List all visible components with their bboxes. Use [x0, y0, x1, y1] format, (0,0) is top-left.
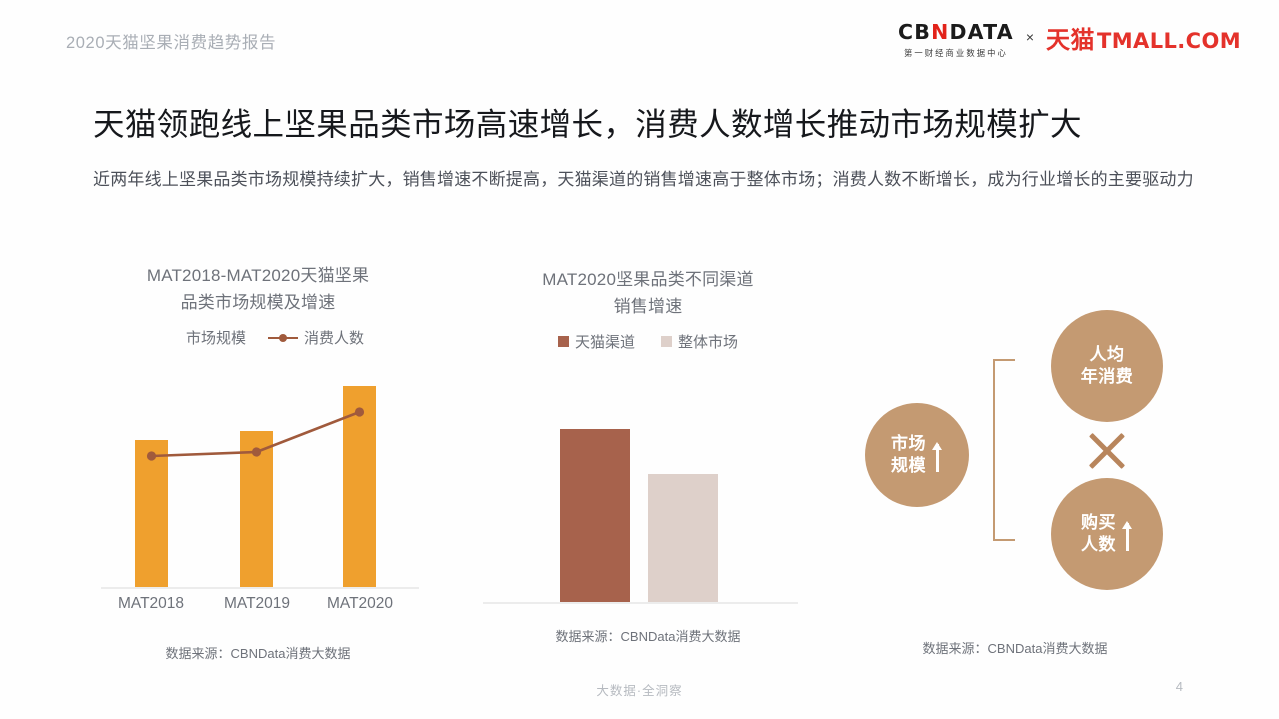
- chart2-source-note: 数据来源：CBNData消费大数据: [483, 626, 813, 645]
- chart1-x-axis-labels: MAT2018 MAT2019 MAT2020: [101, 595, 419, 621]
- circle-buyer-count-label: 购买 人数: [1081, 512, 1116, 556]
- circle-market-size: 市场 规模: [865, 403, 969, 507]
- multiply-icon: [1084, 428, 1130, 474]
- chart1-title-line1: MAT2018-MAT2020天猫坚果: [93, 262, 423, 289]
- brand-logo: CBNDATA 第一财经商业数据中心 × 天猫 TMALL.COM: [898, 22, 1241, 59]
- cbndata-logo: CBNDATA 第一财经商业数据中心: [898, 22, 1014, 59]
- chart1-source-note: 数据来源：CBNData消费大数据: [93, 643, 423, 662]
- cbndata-n-accent: N: [931, 20, 949, 44]
- legend-label-market-size: 市场规模: [186, 327, 246, 348]
- legend-label-consumers: 消费人数: [304, 327, 364, 348]
- circle-per-capita-label: 人均 年消费: [1081, 344, 1134, 388]
- chart1-title: MAT2018-MAT2020天猫坚果 品类市场规模及增速: [93, 262, 423, 316]
- diagram-source-note: 数据来源：CBNData消费大数据: [845, 638, 1185, 657]
- chart1-xlabel-2: MAT2020: [327, 595, 393, 613]
- cbndata-wordmark: CBNDATA: [898, 22, 1014, 43]
- chart-panel-market-size: MAT2018-MAT2020天猫坚果 品类市场规模及增速 市场规模 消费人数: [93, 262, 423, 662]
- report-title: 2020天猫坚果消费趋势报告: [66, 29, 276, 53]
- tmall-logo: 天猫 TMALL.COM: [1046, 20, 1241, 55]
- logo-separator-x: ×: [1025, 29, 1035, 45]
- chart2-x-axis: [483, 602, 798, 604]
- circle-market-size-line1: 市场: [891, 433, 926, 455]
- formula-diagram-panel: 市场 规模 人均 年消费 购买 人数 数据来源：CBNDat: [845, 300, 1185, 600]
- chart2-title-line1: MAT2020坚果品类不同渠道: [483, 266, 813, 293]
- grouping-bracket: [993, 359, 1015, 541]
- up-arrow-icon-buyer-count: [1121, 517, 1133, 551]
- chart1-xlabel-1: MAT2019: [224, 595, 290, 613]
- circle-per-capita-line1: 人均: [1081, 344, 1134, 366]
- legend-swatch-overall-icon: [661, 336, 672, 347]
- legend-item-tmall-channel: 天猫渠道: [558, 331, 635, 352]
- page-title: 天猫领跑线上坚果品类市场高速增长，消费人数增长推动市场规模扩大: [93, 99, 1082, 145]
- chart1-legend: 市场规模 消费人数: [93, 327, 423, 348]
- circle-buyer-count-line2: 人数: [1081, 534, 1116, 556]
- tmall-logo-cn: 天猫: [1046, 20, 1095, 55]
- tmall-logo-en: TMALL.COM: [1097, 29, 1241, 53]
- legend-item-consumers: 消费人数: [268, 327, 364, 348]
- chart2-bar-overall-market: [648, 474, 718, 602]
- page-subtitle: 近两年线上坚果品类市场规模持续扩大，销售增速不断提高，天猫渠道的销售增速高于整体…: [93, 163, 1208, 196]
- chart-panel-channel-growth: MAT2020坚果品类不同渠道 销售增速 天猫渠道 整体市场 数据来源：CBND…: [483, 266, 813, 645]
- cbndata-text-part2: DATA: [949, 20, 1013, 44]
- circle-buyer-count-content: 购买 人数: [1081, 512, 1133, 556]
- legend-label-overall-market: 整体市场: [678, 331, 738, 352]
- up-arrow-icon-market-size: [931, 438, 943, 472]
- chart1-xlabel-0: MAT2018: [118, 595, 184, 613]
- legend-swatch-bar-icon: [152, 332, 180, 343]
- chart1-plot-area: [101, 364, 419, 589]
- circle-per-capita-spend: 人均 年消费: [1051, 310, 1163, 422]
- circle-buyer-count-line1: 购买: [1081, 512, 1116, 534]
- page-number: 4: [1176, 679, 1183, 694]
- chart2-bar-tmall-channel: [560, 429, 630, 602]
- circle-per-capita-line2: 年消费: [1081, 366, 1134, 388]
- slide-root: 2020天猫坚果消费趋势报告 CBNDATA 第一财经商业数据中心 × 天猫 T…: [0, 0, 1279, 719]
- legend-label-tmall-channel: 天猫渠道: [575, 331, 635, 352]
- chart2-plot-area: [483, 366, 798, 604]
- circle-market-size-label: 市场 规模: [891, 433, 926, 477]
- circle-buyer-count: 购买 人数: [1051, 478, 1163, 590]
- chart2-title: MAT2020坚果品类不同渠道 销售增速: [483, 266, 813, 320]
- cbndata-text-part1: CB: [898, 20, 931, 44]
- circle-market-size-line2: 规模: [891, 455, 926, 477]
- chart1-line-series: [101, 364, 419, 589]
- footer-tagline: 大数据·全洞察: [0, 680, 1279, 699]
- legend-item-overall-market: 整体市场: [661, 331, 738, 352]
- legend-swatch-line-icon: [268, 332, 298, 343]
- cbndata-subtitle: 第一财经商业数据中心: [904, 47, 1008, 59]
- chart1-title-line2: 品类市场规模及增速: [93, 289, 423, 316]
- chart2-legend: 天猫渠道 整体市场: [483, 331, 813, 352]
- legend-item-market-size: 市场规模: [152, 327, 246, 348]
- legend-swatch-tmall-icon: [558, 336, 569, 347]
- chart2-title-line2: 销售增速: [483, 293, 813, 320]
- circle-market-size-content: 市场 规模: [891, 433, 943, 477]
